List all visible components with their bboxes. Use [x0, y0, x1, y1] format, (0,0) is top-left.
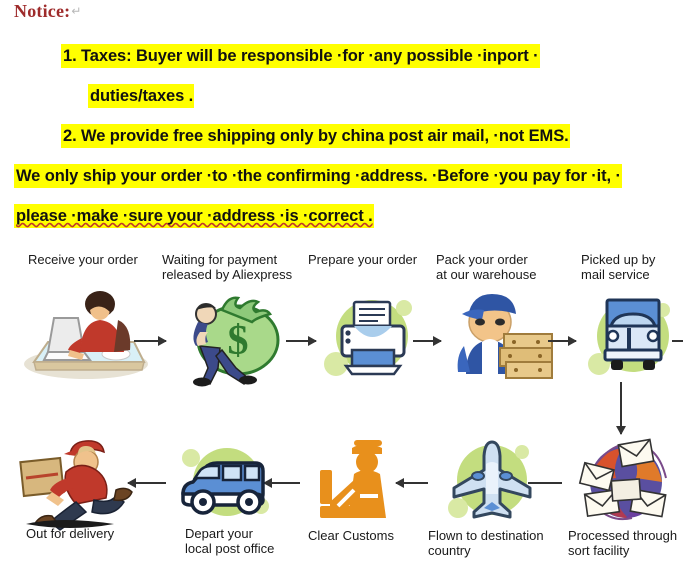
notice-line-1-text: 1. Taxes: Buyer will be responsible ·for…: [61, 44, 540, 68]
mail-sorting-icon: [576, 436, 680, 528]
flow-arrow-down: [620, 382, 622, 434]
paragraph-mark-icon: ↵: [71, 4, 81, 18]
notice-line-4-text: We only ship your order ·to ·the confirm…: [14, 164, 622, 188]
flow-label-waiting-payment: Waiting for payment released by Aliexpre…: [162, 252, 312, 282]
notice-line-5-text: please ·make ·sure your ·address ·is ·co…: [14, 204, 374, 228]
notice-line-2-text: duties/taxes .: [88, 84, 194, 108]
flow-label-prepare-order: Prepare your order: [308, 252, 448, 267]
flow-label-clear-customs: Clear Customs: [308, 528, 448, 543]
delivery-van-icon: [169, 440, 287, 526]
flow-connector-right: [672, 340, 683, 342]
warehouse-worker-boxes-icon: [444, 286, 564, 386]
flow-arrow-1: [134, 340, 166, 342]
notice-line-3: 2. We provide free shipping only by chin…: [0, 116, 685, 156]
customs-officer-icon: [314, 436, 416, 524]
money-bag-carrier-icon: $: [176, 288, 296, 388]
notice-line-1: 1. Taxes: Buyer will be responsible ·for…: [0, 36, 685, 76]
notice-heading-text: Notice:: [14, 1, 70, 21]
notice-line-4: We only ship your order ·to ·the confirm…: [0, 156, 685, 196]
flow-label-pack-order: Pack your order at our warehouse: [436, 252, 576, 282]
flow-label-flown-destination: Flown to destination country: [428, 528, 578, 558]
mail-truck-icon: [577, 288, 685, 384]
notice-line-3-text: 2. We provide free shipping only by chin…: [61, 124, 570, 148]
notice-line-2: duties/taxes .: [0, 76, 685, 116]
flow-label-depart-post-office: Depart your local post office: [185, 526, 325, 556]
notice-line-5: please ·make ·sure your ·address ·is ·co…: [0, 196, 685, 236]
person-at-computer-icon: [18, 290, 158, 382]
flow-label-receive-order: Receive your order: [28, 252, 168, 267]
shipping-process-flowchart: Receive your order Waiting for payment r…: [0, 252, 685, 586]
flow-arrow-2: [286, 340, 316, 342]
printer-icon: [316, 288, 432, 386]
running-courier-icon: [12, 434, 138, 530]
svg-text:$: $: [228, 318, 249, 364]
airplane-icon: [440, 434, 546, 526]
notice-heading: Notice:↵: [14, 1, 82, 22]
flow-arrow-3: [413, 340, 441, 342]
flow-arrow-4: [548, 340, 576, 342]
flow-label-picked-up: Picked up by mail service: [581, 252, 685, 282]
notice-body: 1. Taxes: Buyer will be responsible ·for…: [0, 36, 685, 236]
flow-label-sort-facility: Processed through sort facility: [568, 528, 685, 558]
